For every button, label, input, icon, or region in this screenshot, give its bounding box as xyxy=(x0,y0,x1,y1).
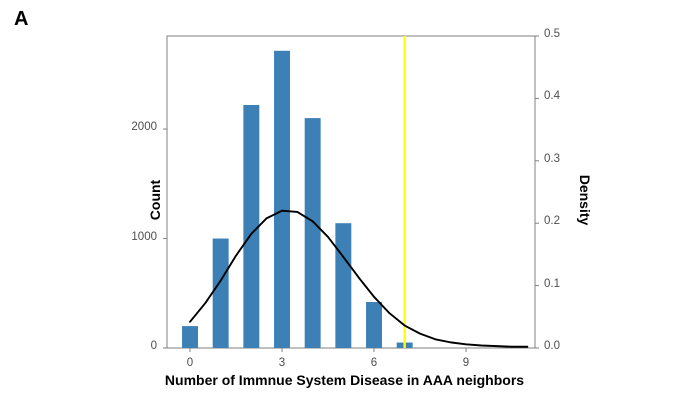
y-tick-label: 2000 xyxy=(111,121,157,133)
bar xyxy=(305,118,321,348)
y-tick-label: 1000 xyxy=(111,231,157,243)
bar xyxy=(243,105,259,348)
bar xyxy=(366,302,382,348)
x-tick-label: 3 xyxy=(262,357,302,369)
y2-tick-label: 0.1 xyxy=(544,278,560,290)
y2-tick-label: 0.5 xyxy=(544,28,560,40)
bar xyxy=(335,223,351,348)
panel-letter: A xyxy=(14,8,28,31)
y2-tick-label: 0.4 xyxy=(544,90,560,102)
x-tick-label: 0 xyxy=(170,357,210,369)
bar xyxy=(274,51,290,348)
x-axis-title: Number of Immnue System Disease in AAA n… xyxy=(0,372,689,388)
bar xyxy=(182,326,198,348)
y-axis-title-density: Density xyxy=(577,140,593,260)
y2-tick-label: 0.2 xyxy=(544,215,560,227)
y-tick-label: 0 xyxy=(111,340,157,352)
bar xyxy=(213,239,229,348)
y2-tick-label: 0.3 xyxy=(544,153,560,165)
x-tick-label: 9 xyxy=(446,357,486,369)
y2-tick-label: 0.0 xyxy=(544,340,560,352)
figure-panel-a: A Count Density Number of Immnue System … xyxy=(0,0,689,400)
x-tick-label: 6 xyxy=(354,357,394,369)
